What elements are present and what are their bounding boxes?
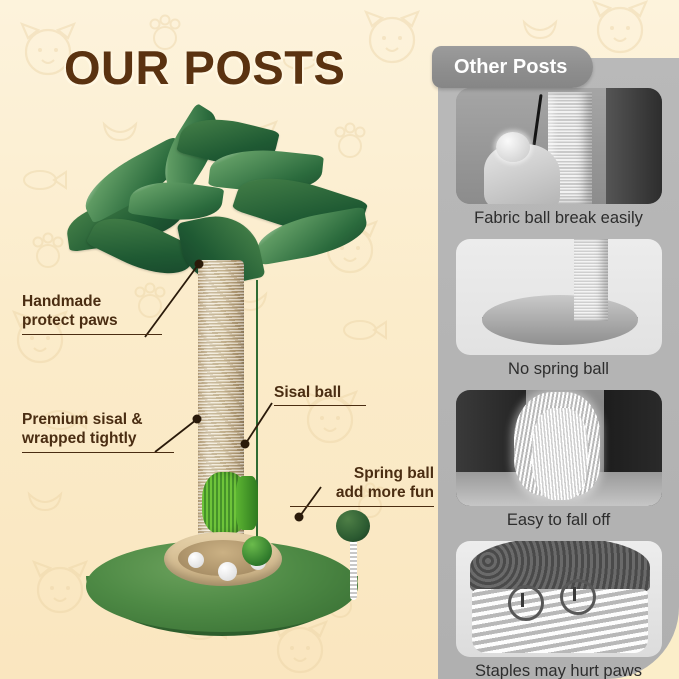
photo-no-spring-ball <box>456 239 662 355</box>
red-circle-marker <box>560 579 596 615</box>
annotation-line: Sisal ball <box>274 383 366 406</box>
annotation-line: Premium sisal & <box>22 411 143 428</box>
spring-coil <box>350 538 357 600</box>
spring-ball <box>336 510 370 542</box>
annotation-spring-ball: Spring ball add more fun <box>290 464 434 507</box>
annotation-premium-sisal: Premium sisal & wrapped tightly <box>22 410 174 453</box>
other-post-card[interactable]: Easy to fall off <box>456 390 662 535</box>
red-circle-marker <box>508 585 544 621</box>
photo-staples <box>456 541 662 657</box>
annotation-line: Handmade <box>22 293 101 310</box>
card-caption: No spring ball <box>456 355 662 384</box>
infographic-root: OUR POSTS <box>0 0 679 679</box>
card-caption: Easy to fall off <box>456 506 662 535</box>
card-caption: Fabric ball break easily <box>456 204 662 233</box>
brush-pad-side <box>236 476 258 530</box>
annotation-line: wrapped tightly <box>22 429 174 452</box>
other-posts-tab-label: Other Posts <box>454 56 567 79</box>
annotation-sisal-ball: Sisal ball <box>274 383 366 406</box>
sisal-ball <box>242 536 272 566</box>
card-caption: Staples may hurt paws <box>456 657 662 679</box>
other-post-card[interactable]: Staples may hurt paws <box>456 541 662 679</box>
track-ball <box>218 562 237 581</box>
photo-fabric-ball <box>456 88 662 204</box>
photo-easy-fall-off <box>456 390 662 506</box>
track-ball <box>188 552 204 568</box>
page-title: OUR POSTS <box>64 40 345 95</box>
other-post-card[interactable]: Fabric ball break easily <box>456 88 662 233</box>
annotation-line: protect paws <box>22 311 162 334</box>
other-post-card[interactable]: No spring ball <box>456 239 662 384</box>
other-posts-card-list: Fabric ball break easily No spring ball … <box>438 88 679 679</box>
annotation-line: Spring ball <box>354 465 434 482</box>
annotation-handmade: Handmade protect paws <box>22 292 162 335</box>
annotation-line: add more fun <box>290 483 434 506</box>
other-posts-tab[interactable]: Other Posts <box>432 46 593 88</box>
